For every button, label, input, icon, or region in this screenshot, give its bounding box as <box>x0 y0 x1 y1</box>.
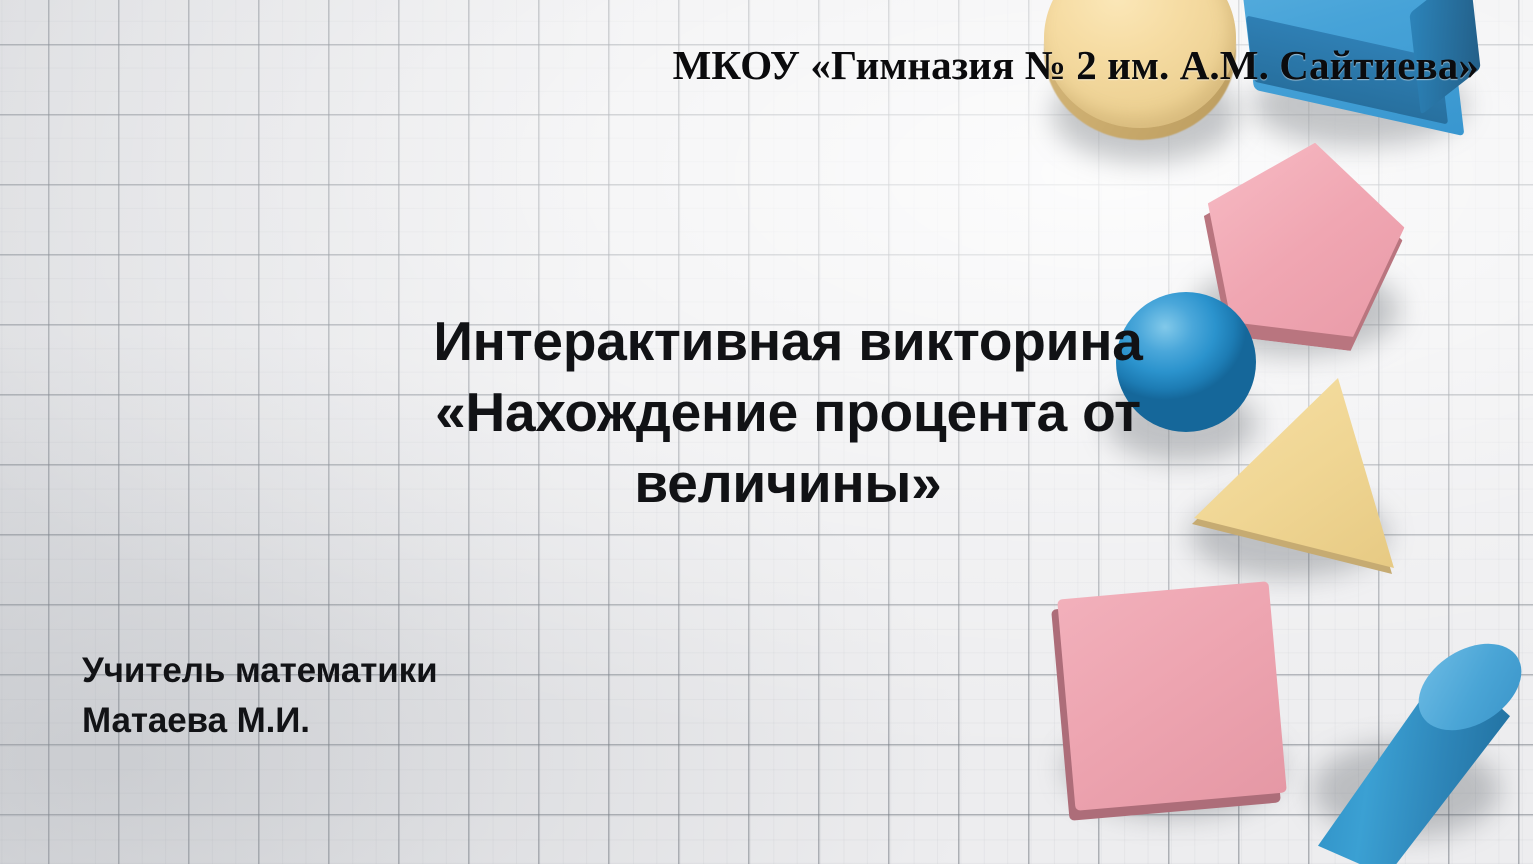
slide-title: Интерактивная викторина «Нахождение проц… <box>390 306 1186 519</box>
presenter-credit: Учитель математики Матаева М.И. <box>82 646 438 747</box>
slide-title-line-2: «Нахождение процента от <box>390 377 1186 448</box>
square-top-face <box>1057 581 1287 811</box>
slide-title-line-3: величины» <box>390 448 1186 519</box>
presentation-slide: МКОУ «Гимназия № 2 им. А.М. Сайтиева» Ин… <box>0 0 1533 864</box>
presenter-role: Учитель математики <box>82 646 438 696</box>
pink-square-shape <box>1058 586 1294 822</box>
institution-header: МКОУ «Гимназия № 2 им. А.М. Сайтиева» <box>0 44 1479 87</box>
slide-title-line-1: Интерактивная викторина <box>390 306 1186 377</box>
yellow-triangle-shape <box>1188 376 1398 584</box>
presenter-name: Матаева М.И. <box>82 696 438 746</box>
blue-cone-shape <box>1318 636 1533 864</box>
